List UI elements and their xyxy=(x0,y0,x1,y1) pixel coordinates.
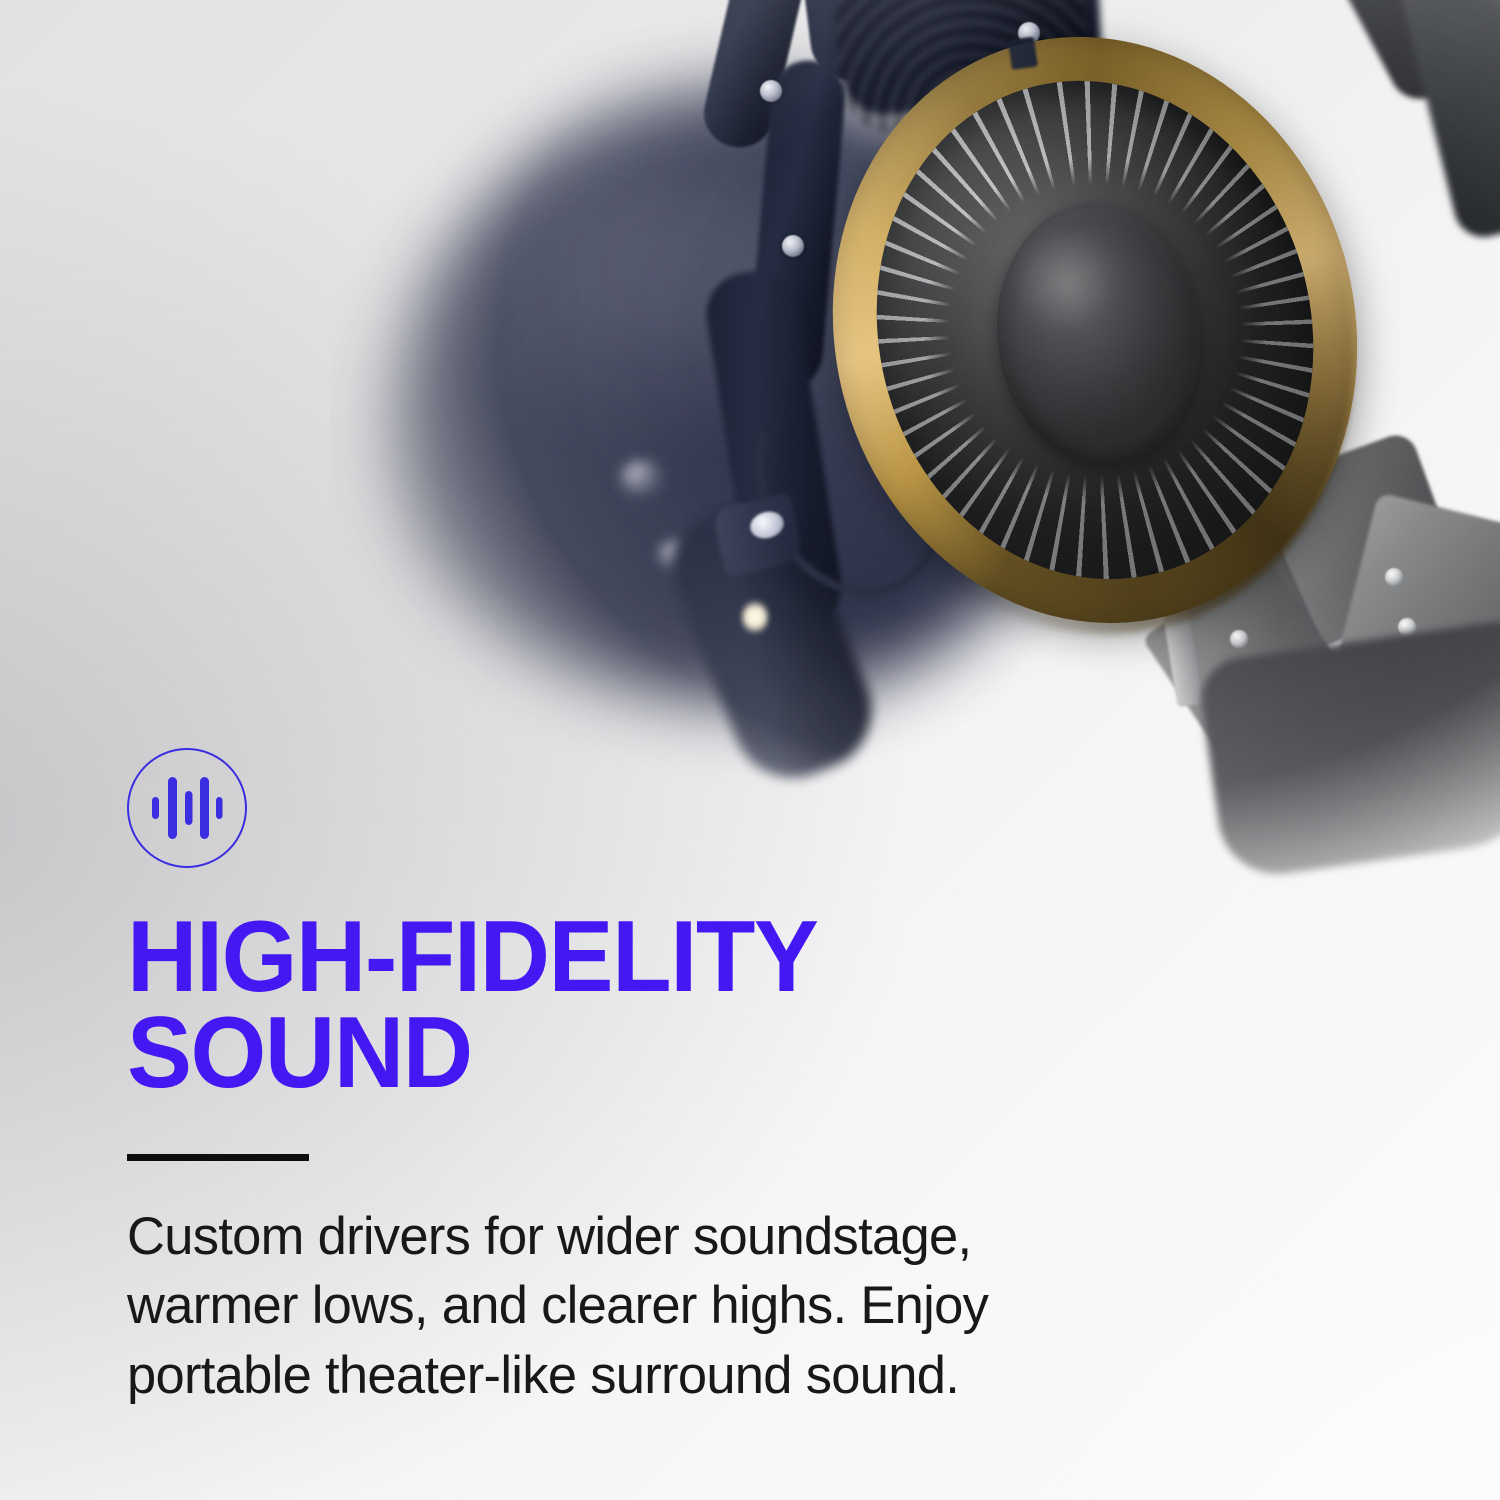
rim-notch xyxy=(1008,36,1038,69)
feature-content: HIGH-FIDELITY SOUND Custom drivers for w… xyxy=(127,748,1307,1411)
feature-card-canvas: HIGH-FIDELITY SOUND Custom drivers for w… xyxy=(0,0,1500,1500)
hinge-screw xyxy=(760,80,782,102)
hinge-screw xyxy=(782,235,804,257)
feature-description: Custom drivers for wider soundstage, war… xyxy=(127,1202,1257,1411)
yoke-screw xyxy=(1385,568,1403,586)
sound-wave-icon xyxy=(127,748,247,868)
background-screw xyxy=(620,460,664,496)
specular-highlight xyxy=(742,600,768,634)
page-title: HIGH-FIDELITY SOUND xyxy=(127,909,1266,1102)
yoke-screw xyxy=(1230,630,1248,648)
title-divider xyxy=(127,1154,309,1161)
